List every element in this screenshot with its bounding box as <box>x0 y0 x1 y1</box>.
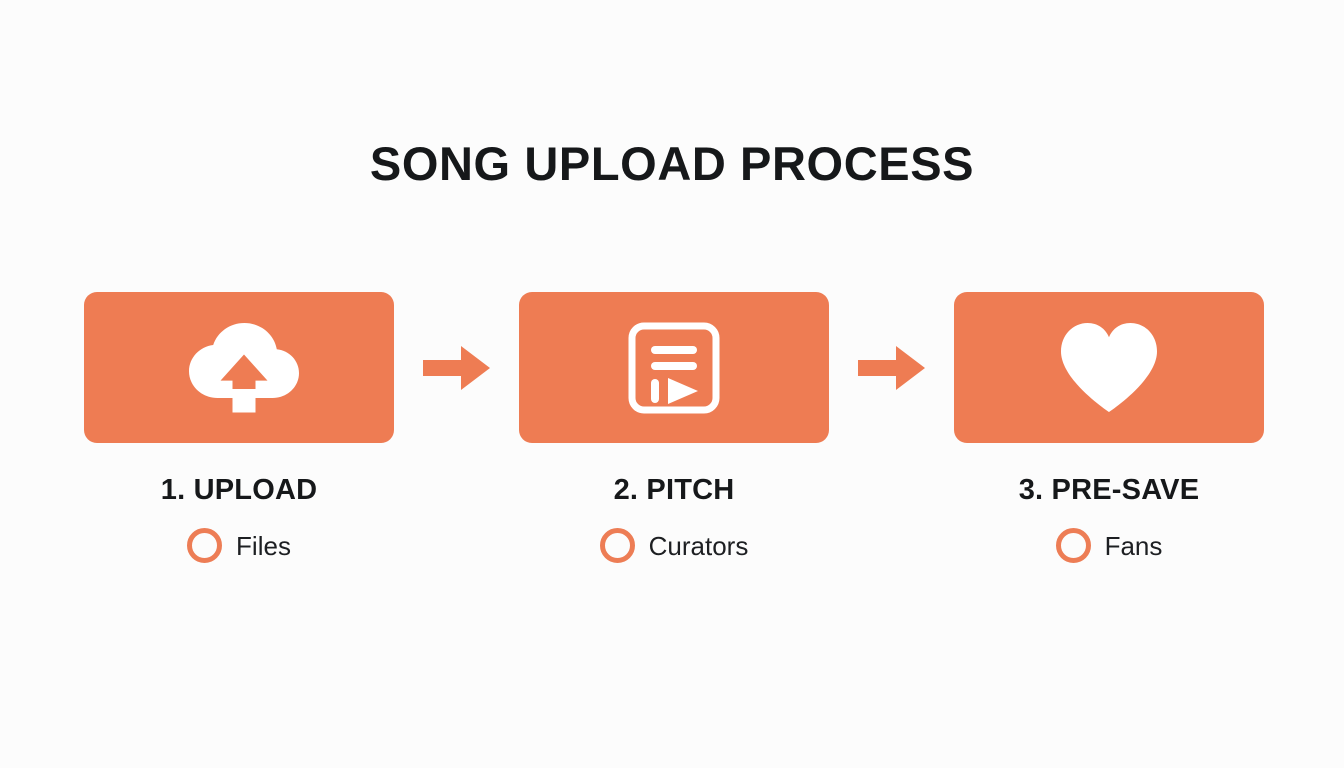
step-label-upload: 1. UPLOAD <box>161 473 318 507</box>
circle-outline-icon <box>187 528 222 563</box>
step-card-upload[interactable] <box>84 292 394 443</box>
step-label-pitch: 2. PITCH <box>614 473 735 507</box>
step-sub-label-upload: Files <box>236 531 291 561</box>
cloud-upload-icon <box>177 320 301 416</box>
connector-arrow-2 <box>829 292 954 443</box>
process-step-pitch[interactable]: 2. PITCH Curators <box>519 292 829 563</box>
process-step-upload[interactable]: 1. UPLOAD Files <box>84 292 394 563</box>
circle-outline-icon <box>600 528 635 563</box>
step-label-presave: 3. PRE-SAVE <box>1019 473 1200 507</box>
step-sub-pitch: Curators <box>600 528 749 563</box>
arrow-right-icon <box>858 344 926 392</box>
connector-arrow-1 <box>394 292 519 443</box>
process-flow: 1. UPLOAD Files <box>84 292 1260 563</box>
step-sub-upload: Files <box>187 528 291 563</box>
step-sub-label-presave: Fans <box>1105 531 1163 561</box>
page-title: SONG UPLOAD PROCESS <box>0 133 1344 195</box>
step-sub-presave: Fans <box>1056 528 1163 563</box>
step-card-presave[interactable] <box>954 292 1264 443</box>
circle-outline-icon <box>1056 528 1091 563</box>
arrow-right-icon <box>423 344 491 392</box>
step-sub-label-pitch: Curators <box>649 531 749 561</box>
slide-canvas: SONG UPLOAD PROCESS 1. UPLOAD Files <box>0 0 1344 768</box>
process-step-presave[interactable]: 3. PRE-SAVE Fans <box>954 292 1264 563</box>
step-card-pitch[interactable] <box>519 292 829 443</box>
media-pitch-icon <box>627 321 721 415</box>
heart-icon <box>1055 320 1163 416</box>
